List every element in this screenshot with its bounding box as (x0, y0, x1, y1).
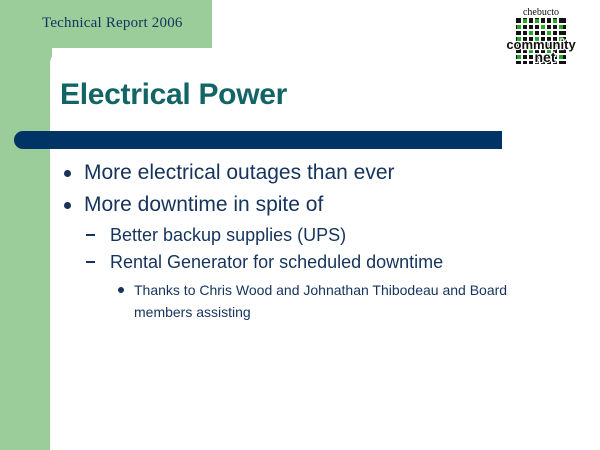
bullet-text: Rental Generator for scheduled downtime (110, 249, 443, 275)
report-label: Technical Report 2006 (42, 15, 183, 32)
logo-top-word: chebucto (523, 7, 559, 18)
bullet-dash-icon (86, 222, 110, 248)
bullet-item-level2: Better backup supplies (UPS) (86, 222, 600, 248)
bullet-text: More downtime in spite of (84, 190, 323, 220)
slide-canvas: Technical Report 2006 (0, 0, 600, 450)
bullet-item-level1: More electrical outages than ever (64, 158, 600, 188)
bullet-item-level1: More downtime in spite of (64, 190, 600, 220)
bullet-dot-icon (64, 190, 84, 220)
bullet-dot-icon (64, 158, 84, 188)
logo-graphic: chebucto community net (498, 4, 584, 68)
logo-bottom-word: net (535, 49, 556, 65)
bullet-text: More electrical outages than ever (84, 158, 395, 188)
bullet-item-level3: Thanks to Chris Wood and Johnathan Thibo… (118, 279, 600, 323)
bullet-text: Better backup supplies (UPS) (110, 222, 346, 248)
bullet-list: More electrical outages than ever More d… (0, 158, 600, 323)
chebucto-community-net-logo: chebucto community net (498, 4, 584, 68)
bullet-dot-icon (118, 279, 134, 301)
slide-title: Electrical Power (60, 78, 287, 112)
bullet-item-level2: Rental Generator for scheduled downtime (86, 249, 600, 275)
navy-title-divider-bar (14, 131, 502, 149)
bullet-text: Thanks to Chris Wood and Johnathan Thibo… (134, 279, 538, 323)
bullet-dash-icon (86, 249, 110, 275)
